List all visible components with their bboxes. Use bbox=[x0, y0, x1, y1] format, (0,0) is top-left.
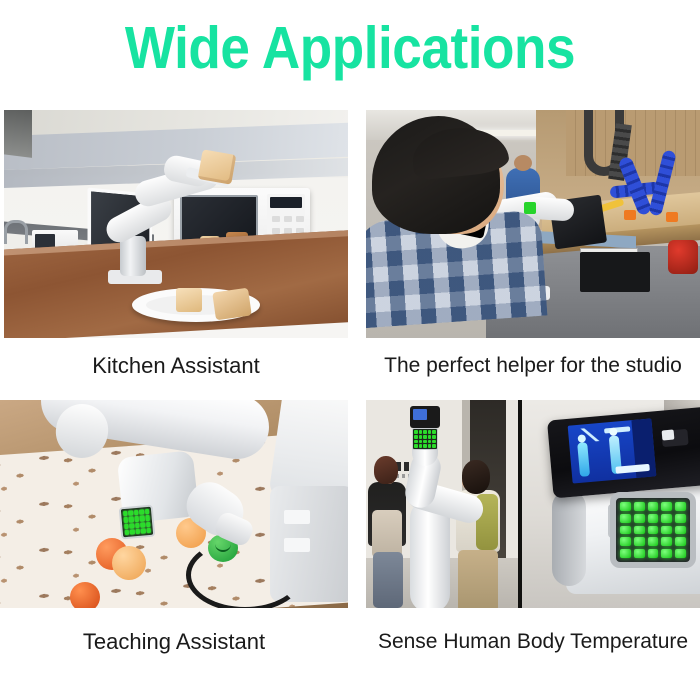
temperature-lobby-view bbox=[366, 400, 518, 608]
bread-slice-on-plate-2 bbox=[212, 288, 252, 321]
caption-kitchen: Kitchen Assistant bbox=[4, 352, 348, 380]
panel-image-kitchen bbox=[4, 110, 348, 338]
teaching-led-matrix-icon bbox=[119, 505, 156, 540]
caption-teaching: Teaching Assistant bbox=[0, 628, 348, 656]
bread-slice-on-plate-1 bbox=[176, 288, 202, 312]
studio-red-tool bbox=[668, 240, 698, 274]
studio-orange-clamp-1 bbox=[624, 210, 636, 220]
closeup-robot-joint-ring bbox=[552, 490, 586, 586]
panel-image-temperature bbox=[366, 400, 700, 608]
panel-image-studio bbox=[366, 110, 700, 338]
temperature-closeup-view bbox=[522, 400, 700, 608]
lobby-person-2 bbox=[454, 460, 502, 608]
lobby-robot-led-matrix-icon bbox=[412, 428, 438, 450]
caption-studio: The perfect helper for the studio bbox=[366, 352, 700, 380]
teaching-robot-cable bbox=[186, 538, 304, 608]
bread-slice-held bbox=[198, 149, 237, 184]
kitchen-robot-column bbox=[120, 236, 146, 276]
thermal-camera-lens bbox=[662, 429, 675, 440]
kitchen-cabinet bbox=[4, 110, 32, 158]
studio-robot-led-indicator bbox=[524, 202, 536, 214]
poster-root: Wide Applications bbox=[0, 0, 700, 700]
studio-orange-clamp-2 bbox=[666, 212, 678, 222]
ball-orange-front bbox=[70, 582, 100, 608]
thermal-display-screen bbox=[568, 418, 657, 483]
lobby-robot-thermal-camera bbox=[410, 406, 440, 428]
page-title: Wide Applications bbox=[35, 14, 665, 82]
caption-temperature: Sense Human Body Temperature bbox=[366, 628, 700, 656]
ball-peach-1 bbox=[112, 546, 146, 580]
closeup-led-matrix-icon bbox=[610, 492, 696, 568]
kitchen-faucet-icon bbox=[4, 220, 28, 244]
lobby-person-1 bbox=[368, 456, 406, 606]
studio-black-equipment bbox=[580, 252, 650, 292]
panel-image-teaching bbox=[0, 400, 348, 608]
